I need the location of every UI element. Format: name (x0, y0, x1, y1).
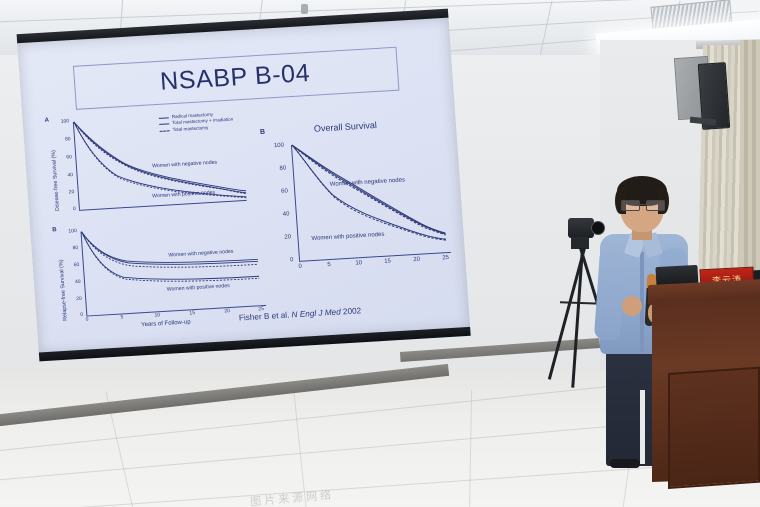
panel-b-right-xtick-5: 5 (327, 262, 331, 268)
eyeglass-lens-right (646, 200, 665, 211)
panel-b-left-xtick-20: 20 (224, 309, 230, 314)
presenter-leg-gap (640, 390, 645, 464)
eyeglass-bridge (638, 204, 646, 205)
tripod-leg (548, 248, 586, 380)
panel-b-right-curves (256, 118, 457, 294)
chart-panel-b-left: B Relapse-free Survival (%) 100 80 60 40… (50, 217, 267, 339)
panel-b-right-xtick-10: 10 (355, 260, 362, 266)
chart-panel-b-right: B Overall Survival 100 80 60 40 20 0 (256, 118, 457, 294)
slide-content: NSABP B-04 A Disease-free Survival (%) 1… (17, 18, 470, 355)
lectern-body (652, 298, 760, 482)
presentation-photo: NSABP B-04 A Disease-free Survival (%) 1… (0, 0, 760, 507)
citation-year: 2002 (343, 306, 362, 316)
citation-author: Fisher B et al. (239, 311, 290, 323)
panel-b-right-xtick-15: 15 (384, 258, 391, 264)
projection-screen[interactable]: NSABP B-04 A Disease-free Survival (%) 1… (17, 18, 471, 363)
legend-line-icon (159, 123, 169, 125)
panel-b-left-xtick-15: 15 (189, 311, 195, 316)
presenter-left-hand (622, 296, 642, 316)
eyeglass-lens-left (621, 200, 640, 211)
presenter-shoe (610, 459, 640, 468)
panel-b-left-xtick-5: 5 (120, 315, 123, 320)
screen-surface: NSABP B-04 A Disease-free Survival (%) 1… (17, 18, 470, 355)
panel-b-right-xtick-0: 0 (298, 264, 302, 270)
panel-b-right-xtick-20: 20 (413, 257, 420, 263)
video-camera[interactable] (568, 218, 594, 238)
sprinkler-head-icon (301, 4, 308, 14)
eyeglasses-icon (621, 200, 663, 209)
panel-b-left-xtick-10: 10 (154, 313, 160, 318)
lectern: 李云涛 (648, 282, 760, 482)
citation-journal: N Engl J Med (291, 307, 341, 319)
lectern-front-panel (668, 367, 760, 489)
panel-b-right-xtick-25: 25 (442, 255, 449, 261)
legend-dashed-line-icon (160, 130, 170, 132)
panel-b-left-xtick-0: 0 (86, 317, 89, 322)
legend-line-icon (159, 117, 169, 119)
